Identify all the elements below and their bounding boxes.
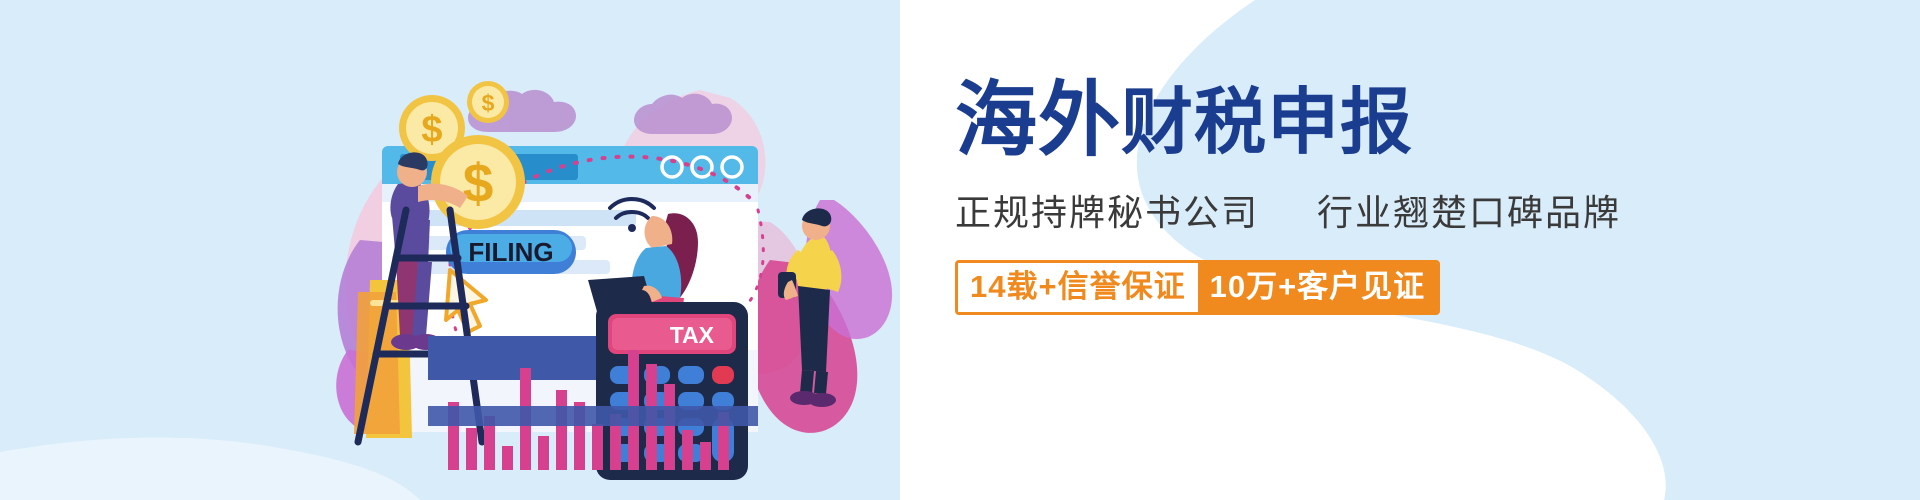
svg-text:FILING: FILING [468,237,553,267]
svg-text:$: $ [421,109,442,151]
headline-primary: 海外 [955,80,1121,162]
promo-banner: $ $ $ FILING [0,0,1920,500]
badge-clients: 10万+客户见证 [1198,263,1438,312]
svg-text:TAX: TAX [670,322,715,348]
gold-coin-small: $ [467,81,509,123]
filing-button: FILING [446,230,576,274]
badge-group: 14载+信誉保证 10万+客户见证 [955,260,1440,315]
banner-copy: 海外 财税申报 正规持牌秘书公司 行业翘楚口碑品牌 14载+信誉保证 10万+客… [955,80,1655,315]
tax-filing-illustration: $ $ $ FILING [300,50,920,480]
subtitle-right: 行业翘楚口碑品牌 [1317,192,1621,233]
headline: 海外 财税申报 [955,80,1655,162]
headline-secondary: 财税申报 [1121,87,1413,162]
badge-credibility: 14载+信誉保证 [958,263,1198,312]
chart-baseline-band [428,406,758,426]
svg-text:$: $ [482,90,495,116]
subtitle: 正规持牌秘书公司 行业翘楚口碑品牌 [955,184,1655,236]
subtitle-left: 正规持牌秘书公司 [955,192,1259,233]
svg-text:$: $ [463,152,494,214]
gold-coin-large: $ [431,135,525,229]
